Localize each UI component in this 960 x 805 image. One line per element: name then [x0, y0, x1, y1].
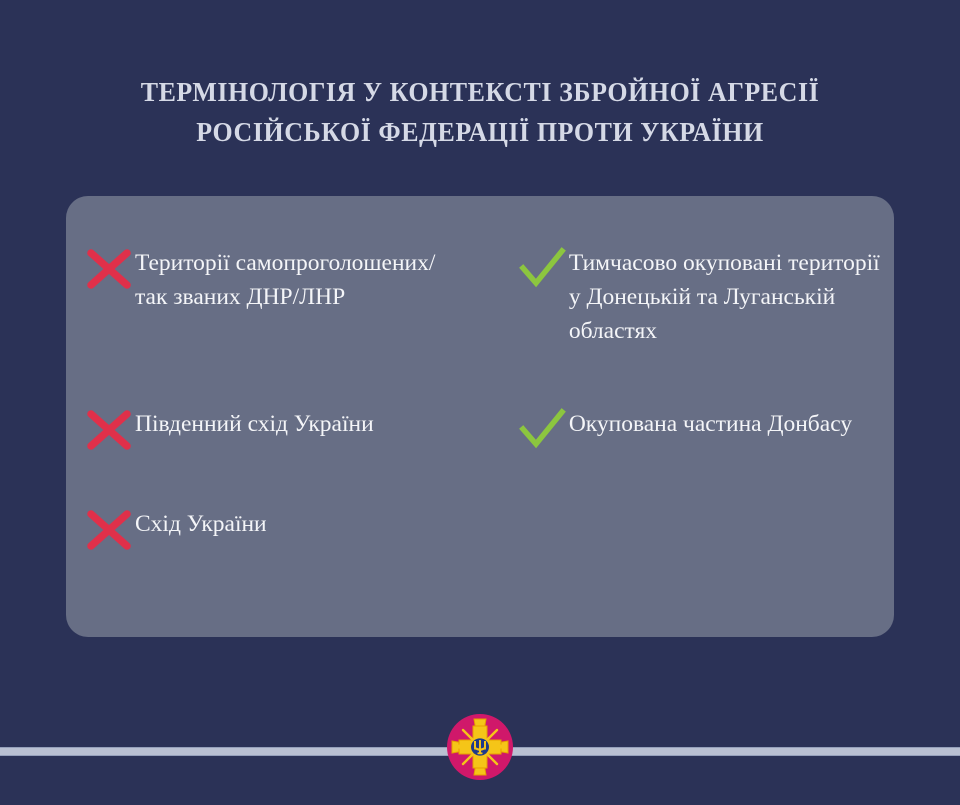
incorrect-term-text: Південний схід України: [135, 403, 374, 441]
page-title: ТЕРМІНОЛОГІЯ У КОНТЕКСТІ ЗБРОЙНОЇ АГРЕСІ…: [0, 72, 960, 152]
incorrect-term-text: Схід України: [135, 503, 267, 541]
general-staff-emblem: [446, 713, 514, 781]
terminology-rows: Території самопроголошених/так званих ДН…: [66, 196, 894, 637]
cross-icon: [83, 246, 135, 292]
correct-term-cell: Окупована частина Донбасу: [510, 403, 894, 453]
incorrect-term-cell: Південний схід України: [66, 403, 510, 453]
terminology-row: Території самопроголошених/так званих ДН…: [66, 244, 894, 348]
cross-icon: [83, 407, 135, 453]
check-icon: [517, 246, 569, 292]
incorrect-term-cell: Території самопроголошених/так званих ДН…: [66, 244, 510, 348]
correct-term-cell: Тимчасово окуповані території у Донецькі…: [510, 244, 894, 348]
terminology-row: Схід України: [66, 503, 894, 553]
incorrect-term-text: Території самопроголошених/так званих ДН…: [135, 244, 465, 314]
title-line-1: ТЕРМІНОЛОГІЯ У КОНТЕКСТІ ЗБРОЙНОЇ АГРЕСІ…: [19, 72, 941, 112]
title-line-2: РОСІЙСЬКОЇ ФЕДЕРАЦІЇ ПРОТИ УКРАЇНИ: [19, 112, 941, 152]
check-icon: [517, 407, 569, 453]
cross-icon: [83, 507, 135, 553]
correct-term-text: Тимчасово окуповані території у Донецькі…: [569, 244, 894, 348]
incorrect-term-cell: Схід України: [66, 503, 513, 553]
terminology-panel: Території самопроголошених/так званих ДН…: [66, 196, 894, 637]
correct-term-text: Окупована частина Донбасу: [569, 403, 852, 441]
terminology-row: Південний схід України Окупована частина…: [66, 403, 894, 453]
